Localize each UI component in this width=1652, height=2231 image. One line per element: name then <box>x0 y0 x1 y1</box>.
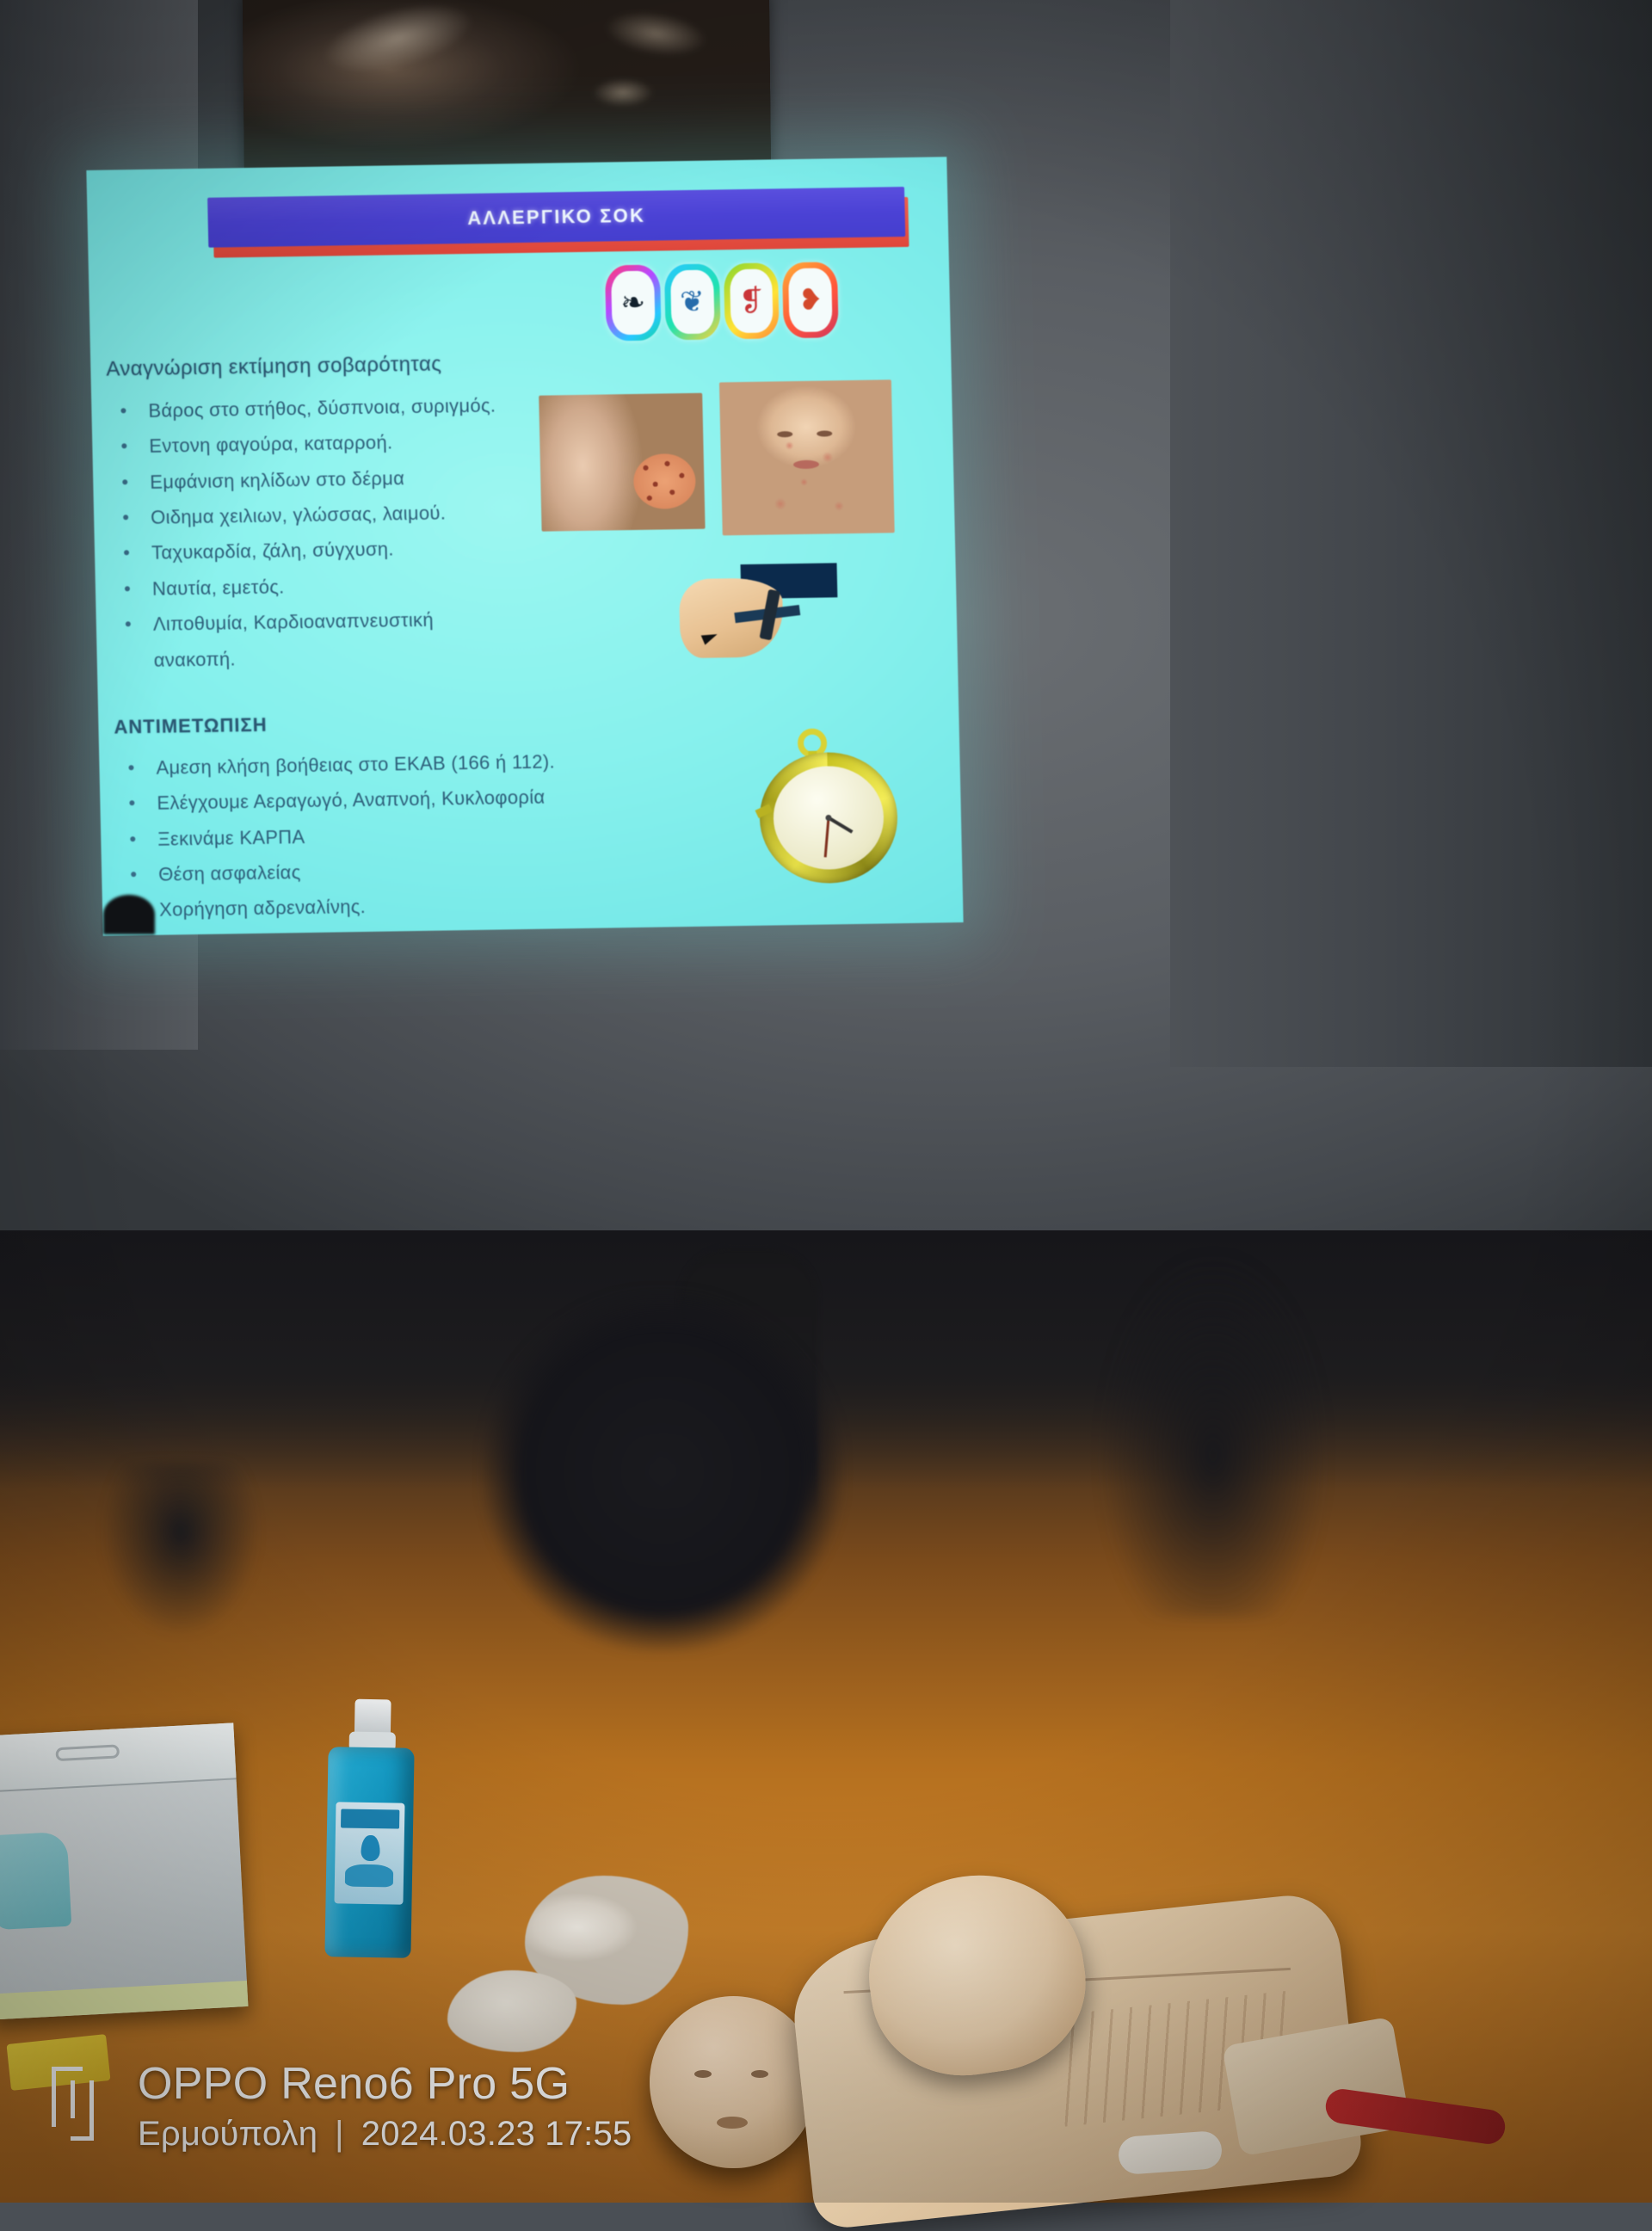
allergy-icon-2: ❦ <box>664 263 721 340</box>
stopwatch-hour-hand <box>828 817 854 834</box>
bullet-dot <box>122 479 127 484</box>
bullet-dot <box>123 515 128 520</box>
oppo-logo-icon <box>52 2067 114 2141</box>
list-item-text: Αμεση κλήση βοήθειας στο ΕΚΑΒ (166 ή 112… <box>156 750 555 778</box>
painting-brushstroke <box>601 5 710 63</box>
list-item-text: Ξεκινάμε ΚΑΡΠΑ <box>157 826 305 850</box>
list-item-text: Οιδημα χειλιων, γλώσσας, λαιμού. <box>151 502 447 528</box>
painting-brushstroke <box>315 0 480 87</box>
dark-object-silhouette <box>482 1291 843 1652</box>
list-item-text: Βάρος στο στήθος, δύσπνοια, συριγμός. <box>148 395 496 422</box>
list-item-text: Χορήγηση αδρεναλίνης. <box>159 896 366 921</box>
list-item-text: Ελέγχουμε Αεραγωγό, Αναπνοή, Κυκλοφορία <box>157 786 546 814</box>
logo-stroke <box>52 2067 83 2071</box>
list-item-text: Ναυτία, εμετός. <box>152 576 285 599</box>
dark-object-silhouette <box>1101 1256 1325 1618</box>
bullet-dot <box>130 836 135 841</box>
section-recognition-heading: Αναγνώριση εκτίμηση σοβαρότητας <box>106 350 589 382</box>
treatment-bullet-list: Αμεση κλήση βοήθειας στο ΕΚΑΒ (166 ή 112… <box>114 743 600 929</box>
painting-brushstroke <box>592 77 654 108</box>
list-item-text: ανακοπή. <box>153 648 236 670</box>
allergy-icon-3-glyph: ❡ <box>739 284 764 318</box>
bullet-dot <box>121 444 126 449</box>
allergy-icon-1-glyph: ❧ <box>620 286 645 320</box>
stopwatch-minute-hand <box>824 817 830 857</box>
slide-title: ΑΛΛΕΡΓΙΚΟ ΣΟΚ <box>467 205 645 230</box>
bullet-dot <box>126 621 131 626</box>
dark-object-silhouette <box>103 1463 258 1635</box>
room-background: ΑΛΛΕΡΓΙΚΟ ΣΟΚ ❧ ❦ ❡ ❥ <box>0 0 1652 2203</box>
allergy-icon-2-glyph: ❦ <box>680 285 705 319</box>
droplet-icon <box>361 1835 380 1861</box>
slide-title-bar: ΑΛΛΕΡΓΙΚΟ ΣΟΚ <box>207 187 907 251</box>
list-item-text: Ταχυκαρδία, ζάλη, σύγχυση. <box>151 539 394 564</box>
allergy-icon-3: ❡ <box>723 262 780 339</box>
logo-stroke <box>89 2080 94 2141</box>
recognition-bullet-list: Βάρος στο στήθος, δύσπνοια, συριγμός. Εν… <box>107 386 595 679</box>
glove-teal <box>0 1832 71 1931</box>
person-head-silhouette <box>103 895 155 934</box>
manikin-white-part <box>1118 2130 1224 2175</box>
allergy-icon-strip: ❧ ❦ ❡ ❥ <box>605 262 839 342</box>
watermark-separator: | <box>335 2115 344 2154</box>
list-item: Χορήγηση αδρεναλίνης. <box>118 885 601 928</box>
bullet-dot <box>124 551 129 556</box>
section-treatment-heading: ΑΝΤΙΜΕΤΩΠΙΣΗ <box>114 709 596 739</box>
rash-closeup <box>633 453 696 509</box>
bullet-dot <box>120 408 126 413</box>
list-item-text: Εμφάνιση κηλίδων στο δέρμα <box>150 467 404 493</box>
bullet-dot <box>131 872 136 877</box>
section-recognition: Αναγνώριση εκτίμηση σοβαρότητας Βάρος στ… <box>106 350 595 679</box>
allergy-icon-4-glyph: ❥ <box>798 283 823 317</box>
list-item-text: Θέση ασφαλείας <box>158 861 301 885</box>
watermark-subline: Ερμούπολη | 2024.03.23 17:55 <box>138 2115 632 2154</box>
bottle-label-bar <box>341 1809 399 1828</box>
logo-stroke <box>71 2080 75 2118</box>
projected-slide: ΑΛΛΕΡΓΙΚΟ ΣΟΚ ❧ ❦ ❡ ❥ <box>86 157 963 935</box>
section-treatment: ΑΝΤΙΜΕΤΩΠΙΣΗ Αμεση κλήση βοήθειας στο ΕΚ… <box>114 709 600 929</box>
stopwatch-center-pin <box>825 815 831 821</box>
list-item-continuation: ανακοπή. <box>112 635 595 678</box>
allergy-icon-4: ❥ <box>782 262 839 338</box>
glove-box-lid <box>0 1723 237 1793</box>
bullet-dot <box>125 586 130 591</box>
logo-stroke <box>71 2136 94 2141</box>
bullet-dot <box>128 765 133 770</box>
hands-icon <box>345 1864 393 1888</box>
slide-body: Αναγνώριση εκτίμηση σοβαρότητας Βάρος στ… <box>106 350 600 928</box>
face-blotches <box>719 379 895 535</box>
epipen-injection-diagram <box>674 563 839 662</box>
bullet-dot <box>129 800 134 805</box>
slide-surface: ΑΛΛΕΡΓΙΚΟ ΣΟΚ ❧ ❦ ❡ ❥ <box>86 157 963 935</box>
watermark-location: Ερμούπολη <box>138 2115 317 2154</box>
glove-box <box>0 1723 248 2019</box>
watermark-device-model: OPPO Reno6 Pro 5G <box>138 2058 570 2110</box>
stopwatch-illustration <box>753 725 907 887</box>
hand-sanitizer-bottle <box>324 1698 415 1958</box>
list-item-text: Εντονη φαγούρα, καταρροή. <box>149 432 393 457</box>
wall-right-shade <box>1170 0 1652 1067</box>
child-face-swelling-photo <box>719 379 895 535</box>
watermark-datetime: 2024.03.23 17:55 <box>361 2115 632 2154</box>
logo-stroke <box>52 2067 56 2127</box>
bottle-cap <box>354 1699 391 1736</box>
allergy-icon-1: ❧ <box>605 265 662 342</box>
list-item-text: Λιποθυμία, Καρδιοαναπνευστική <box>153 609 435 635</box>
camera-watermark: OPPO Reno6 Pro 5G Ερμούπολη | 2024.03.23… <box>52 2058 826 2179</box>
